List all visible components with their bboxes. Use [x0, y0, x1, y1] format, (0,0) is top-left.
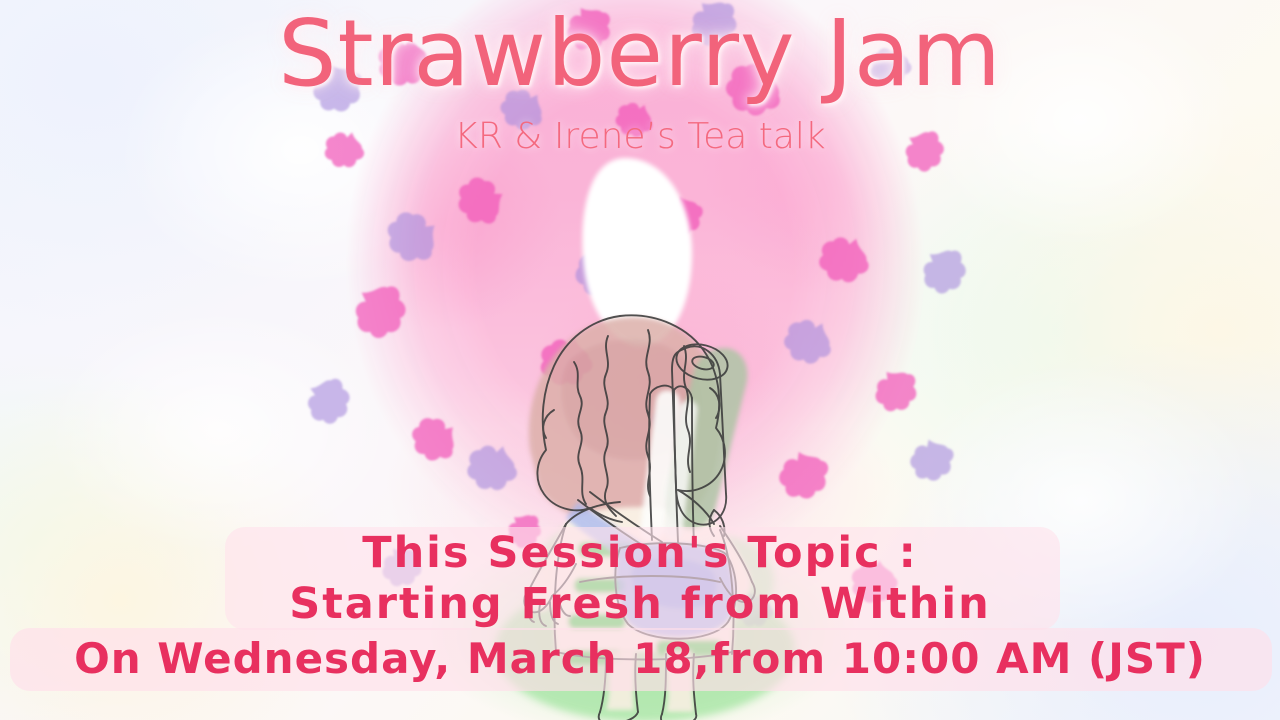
poster-canvas: Strawberry Jam KR & Irene’s Tea talk Thi… [0, 0, 1280, 720]
page-subtitle: KR & Irene’s Tea talk [0, 117, 1280, 157]
topic-label: This Session's Topic : [0, 528, 1280, 579]
event-datetime: On Wednesday, March 18,from 10:00 AM (JS… [0, 632, 1280, 686]
topic-block: This Session's Topic : Starting Fresh fr… [0, 528, 1280, 630]
topic-value: Starting Fresh from Within [0, 579, 1280, 630]
page-title: Strawberry Jam [0, 8, 1280, 100]
